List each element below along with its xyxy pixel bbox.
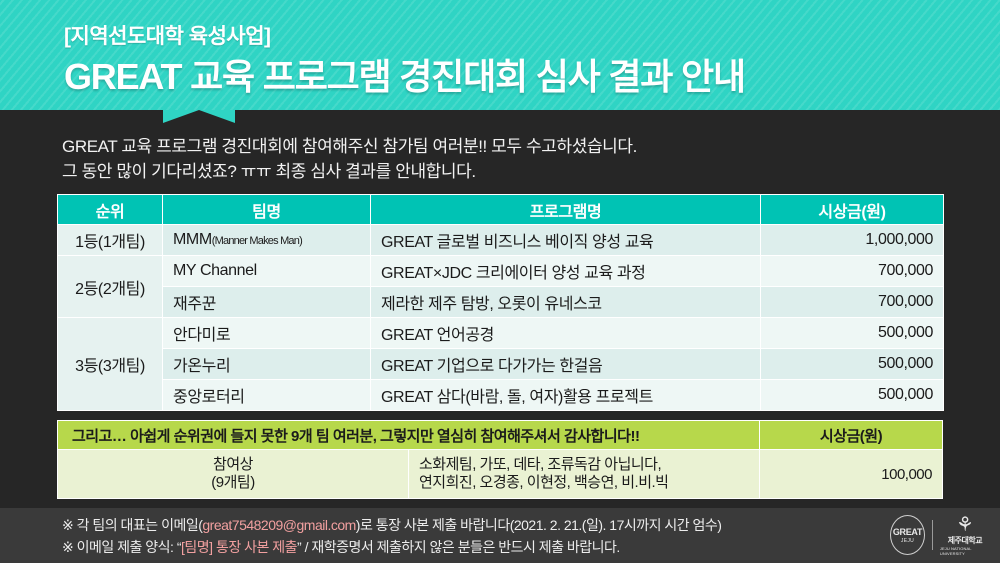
participation-label: 참여상 (9개팀) <box>58 450 409 499</box>
participation-names-line-2: 연지희진, 오경종, 이현정, 백승연, 비.비.빅 <box>419 474 749 492</box>
footer-note-2-pre: ※ 이메일 제출 양식: “ <box>62 539 181 555</box>
page-title: GREAT 교육 프로그램 경진대회 심사 결과 안내 <box>64 48 745 100</box>
results-table-body: 1등(1개팀)MMM(Manner Makes Man)GREAT 글로벌 비즈… <box>58 225 944 411</box>
column-header-team: 팀명 <box>163 195 371 225</box>
team-name-paren: (Manner Makes Man) <box>212 235 302 247</box>
cell-rank: 2등(2개팀) <box>58 256 163 318</box>
footer-notes: ※ 각 팀의 대표는 이메일(great7548209@gmail.com)로 … <box>62 514 721 558</box>
jeju-flame-icon: ⚘ <box>956 515 974 535</box>
footer-bar: ※ 각 팀의 대표는 이메일(great7548209@gmail.com)로 … <box>0 508 1000 563</box>
jeju-logo-name: 제주대학교 <box>948 535 982 546</box>
cell-prize-amount: 700,000 <box>761 256 944 287</box>
banner-notch-shape <box>163 110 235 123</box>
cell-team-name: 안다미로 <box>163 318 371 349</box>
table-row: 재주꾼제라한 제주 탐방, 오롯이 유네스코700,000 <box>58 287 944 318</box>
cell-prize-amount: 500,000 <box>761 349 944 380</box>
participation-row: 참여상 (9개팀) 소화제팀, 가또, 데타, 조류독감 아닙니다, 연지희진,… <box>58 450 943 499</box>
cell-program-name: GREAT 언어공경 <box>371 318 761 349</box>
table-row: 1등(1개팀)MMM(Manner Makes Man)GREAT 글로벌 비즈… <box>58 225 944 256</box>
participation-amount: 100,000 <box>760 450 943 499</box>
logo-divider <box>932 520 933 550</box>
participation-message: 그리고… 아쉽게 순위권에 들지 못한 9개 팀 여러분, 그렇지만 열심히 참… <box>58 421 760 450</box>
intro-text: GREAT 교육 프로그램 경진대회에 참여해주신 참가팀 여러분!! 모두 수… <box>62 134 922 184</box>
cell-team-name: MY Channel <box>163 256 371 287</box>
team-name-main: 안다미로 <box>173 327 230 344</box>
participation-table: 그리고… 아쉽게 순위권에 들지 못한 9개 팀 여러분, 그렇지만 열심히 참… <box>57 420 943 499</box>
cell-program-name: 제라한 제주 탐방, 오롯이 유네스코 <box>371 287 761 318</box>
jeju-university-logo-icon: ⚘ 제주대학교 JEJU NATIONAL UNIVERSITY <box>940 515 990 556</box>
cell-prize-amount: 1,000,000 <box>761 225 944 256</box>
table-row: 3등(3개팀)안다미로GREAT 언어공경500,000 <box>58 318 944 349</box>
jeju-logo-english: JEJU NATIONAL UNIVERSITY <box>940 546 990 556</box>
footer-note-2-post: ” / 재학증명서 제출하지 않은 분들은 반드시 제출 바랍니다. <box>297 539 620 555</box>
cell-team-name: 중앙로터리 <box>163 380 371 411</box>
cell-prize-amount: 500,000 <box>761 318 944 349</box>
table-row: 2등(2개팀)MY ChannelGREAT×JDC 크리에이터 양성 교육 과… <box>58 256 944 287</box>
cell-team-name: 가온누리 <box>163 349 371 380</box>
cell-prize-amount: 500,000 <box>761 380 944 411</box>
cell-prize-amount: 700,000 <box>761 287 944 318</box>
banner-eyebrow: [지역선도대학 육성사업] <box>64 20 271 50</box>
intro-line-2: 그 동안 많이 기다리셨죠? ㅠㅠ 최종 심사 결과를 안내합니다. <box>62 159 922 184</box>
announcement-poster: [지역선도대학 육성사업] GREAT 교육 프로그램 경진대회 심사 결과 안… <box>0 0 1000 563</box>
footer-note-2: ※ 이메일 제출 양식: “[팀명] 통장 사본 제출” / 재학증명서 제출하… <box>62 536 721 558</box>
email-subject-format: [팀명] 통장 사본 제출 <box>181 539 297 555</box>
team-name-main: 중앙로터리 <box>173 389 245 406</box>
cell-team-name: MMM(Manner Makes Man) <box>163 225 371 256</box>
participation-label-line-2: (9개팀) <box>68 474 398 492</box>
contact-email[interactable]: great7548209@gmail.com <box>202 517 355 533</box>
column-header-program: 프로그램명 <box>371 195 761 225</box>
cell-program-name: GREAT 글로벌 비즈니스 베이직 양성 교육 <box>371 225 761 256</box>
table-header-row: 순위 팀명 프로그램명 시상금(원) <box>58 195 944 225</box>
team-name-main: MMM <box>173 231 212 248</box>
participation-team-names: 소화제팀, 가또, 데타, 조류독감 아닙니다, 연지희진, 오경종, 이현정,… <box>409 450 760 499</box>
great-logo-subtext: JEJU <box>901 538 914 544</box>
cell-program-name: GREAT 기업으로 다가가는 한걸음 <box>371 349 761 380</box>
team-name-main: 재주꾼 <box>173 296 216 313</box>
cell-rank: 3등(3개팀) <box>58 318 163 411</box>
table-row: 가온누리GREAT 기업으로 다가가는 한걸음500,000 <box>58 349 944 380</box>
cell-program-name: GREAT×JDC 크리에이터 양성 교육 과정 <box>371 256 761 287</box>
team-name-main: MY Channel <box>173 262 257 279</box>
column-header-rank: 순위 <box>58 195 163 225</box>
table-row: 중앙로터리GREAT 삼다(바람, 돌, 여자)활용 프로젝트500,000 <box>58 380 944 411</box>
great-jeju-logo-icon: GREAT JEJU <box>890 515 925 555</box>
participation-names-line-1: 소화제팀, 가또, 데타, 조류독감 아닙니다, <box>419 456 749 474</box>
footer-note-1-pre: ※ 각 팀의 대표는 이메일( <box>62 517 202 533</box>
participation-label-line-1: 참여상 <box>68 456 398 474</box>
intro-line-1: GREAT 교육 프로그램 경진대회에 참여해주신 참가팀 여러분!! 모두 수… <box>62 134 922 159</box>
participation-prize-header: 시상금(원) <box>760 421 943 450</box>
column-header-prize: 시상금(원) <box>761 195 944 225</box>
footer-note-1-post: )로 통장 사본 제출 바랍니다(2021. 2. 21.(일). 17시까지 … <box>356 517 722 533</box>
team-name-main: 가온누리 <box>173 358 230 375</box>
header-banner: [지역선도대학 육성사업] GREAT 교육 프로그램 경진대회 심사 결과 안… <box>0 0 1000 110</box>
cell-program-name: GREAT 삼다(바람, 돌, 여자)활용 프로젝트 <box>371 380 761 411</box>
great-logo-text: GREAT <box>893 527 922 537</box>
logo-group: GREAT JEJU ⚘ 제주대학교 JEJU NATIONAL UNIVERS… <box>890 512 990 558</box>
cell-rank: 1등(1개팀) <box>58 225 163 256</box>
results-table: 순위 팀명 프로그램명 시상금(원) 1등(1개팀)MMM(Manner Mak… <box>57 194 944 411</box>
cell-team-name: 재주꾼 <box>163 287 371 318</box>
participation-header-row: 그리고… 아쉽게 순위권에 들지 못한 9개 팀 여러분, 그렇지만 열심히 참… <box>58 421 943 450</box>
footer-note-1: ※ 각 팀의 대표는 이메일(great7548209@gmail.com)로 … <box>62 514 721 536</box>
